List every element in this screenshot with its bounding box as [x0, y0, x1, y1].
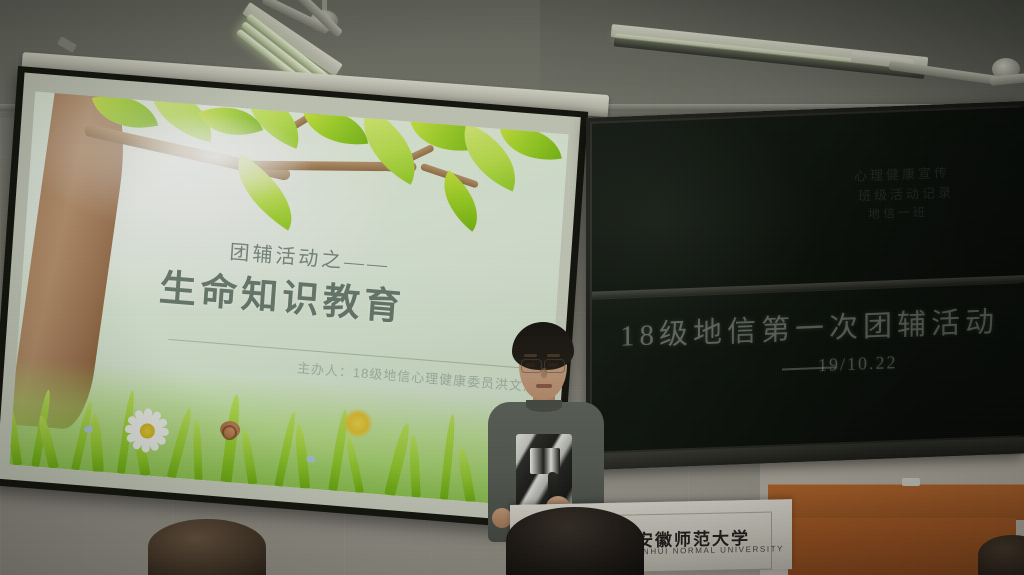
- audience-head: [148, 519, 266, 575]
- panel-latch-icon: [902, 478, 920, 486]
- blackboard-upper-panel: [592, 107, 1024, 292]
- presentation-slide: 团辅活动之—— 生命知识教育 主办人：18级地信心理健康委员洪文涵: [9, 91, 568, 507]
- presenter-eye: [525, 363, 535, 367]
- presenter-hand: [492, 508, 512, 528]
- slide-text-block: 团辅活动之—— 生命知识教育: [21, 219, 560, 343]
- presenter-eyebrow: [524, 354, 537, 357]
- presenter-collar: [526, 400, 562, 412]
- daisy-flower-icon: [122, 406, 171, 456]
- blackboard: 心理健康宣传 班级活动记录 地信一班 18级地信第一次团辅活动 19/10.22: [586, 101, 1024, 470]
- blackboard-faint-text: 心理健康宣传: [854, 162, 950, 185]
- ceiling-fan-icon: [266, 0, 386, 58]
- sweatshirt-graphic-detail: [530, 448, 560, 474]
- classroom-photo-scene: 团辅活动之—— 生命知识教育 主办人：18级地信心理健康委员洪文涵: [0, 0, 1024, 575]
- blackboard-faint-text: 地信一班: [868, 203, 928, 222]
- blackboard-date-text: 19/10.22: [818, 352, 898, 376]
- blackboard-faint-text: 班级活动记录: [858, 182, 954, 205]
- presenter-mouth: [536, 384, 552, 388]
- presenter-nose: [541, 368, 547, 378]
- ceiling-fan-icon: [930, 46, 1024, 106]
- presenter-eye: [548, 363, 558, 367]
- presenter-eyebrow: [547, 354, 560, 357]
- wood-panel-top: [768, 484, 1024, 520]
- projector-glare-spot: [118, 107, 313, 208]
- audience-head: [506, 507, 644, 575]
